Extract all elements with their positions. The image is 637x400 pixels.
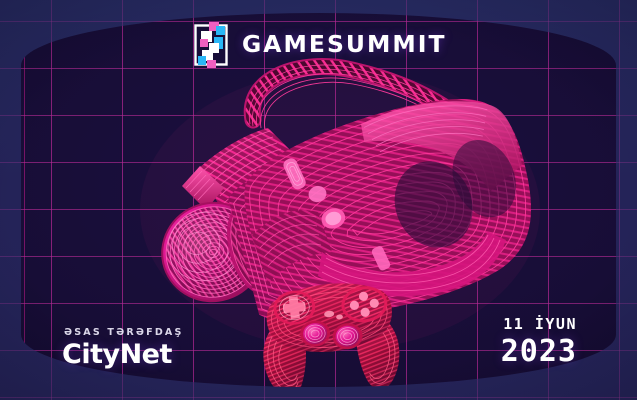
event-title: GAMESUMMIT [242,34,447,57]
partner-kicker-label: ƏSAS TƏRƏFDAŞ [64,327,184,338]
header-logo-row: GAMESUMMIT [0,22,637,68]
partner-name: CityNet [62,341,184,368]
gamesummit-event-banner: GAMESUMMIT ƏSAS TƏRƏFDAŞ CityNet 11 İYUN… [0,0,637,400]
event-date-day-month: 11 İYUN [501,317,577,332]
gamesummit-logo-mark-icon [192,22,230,68]
event-date-year: 2023 [501,337,577,367]
partner-block: ƏSAS TƏRƏFDAŞ CityNet [62,327,184,368]
event-date-block: 11 İYUN 2023 [501,317,577,367]
